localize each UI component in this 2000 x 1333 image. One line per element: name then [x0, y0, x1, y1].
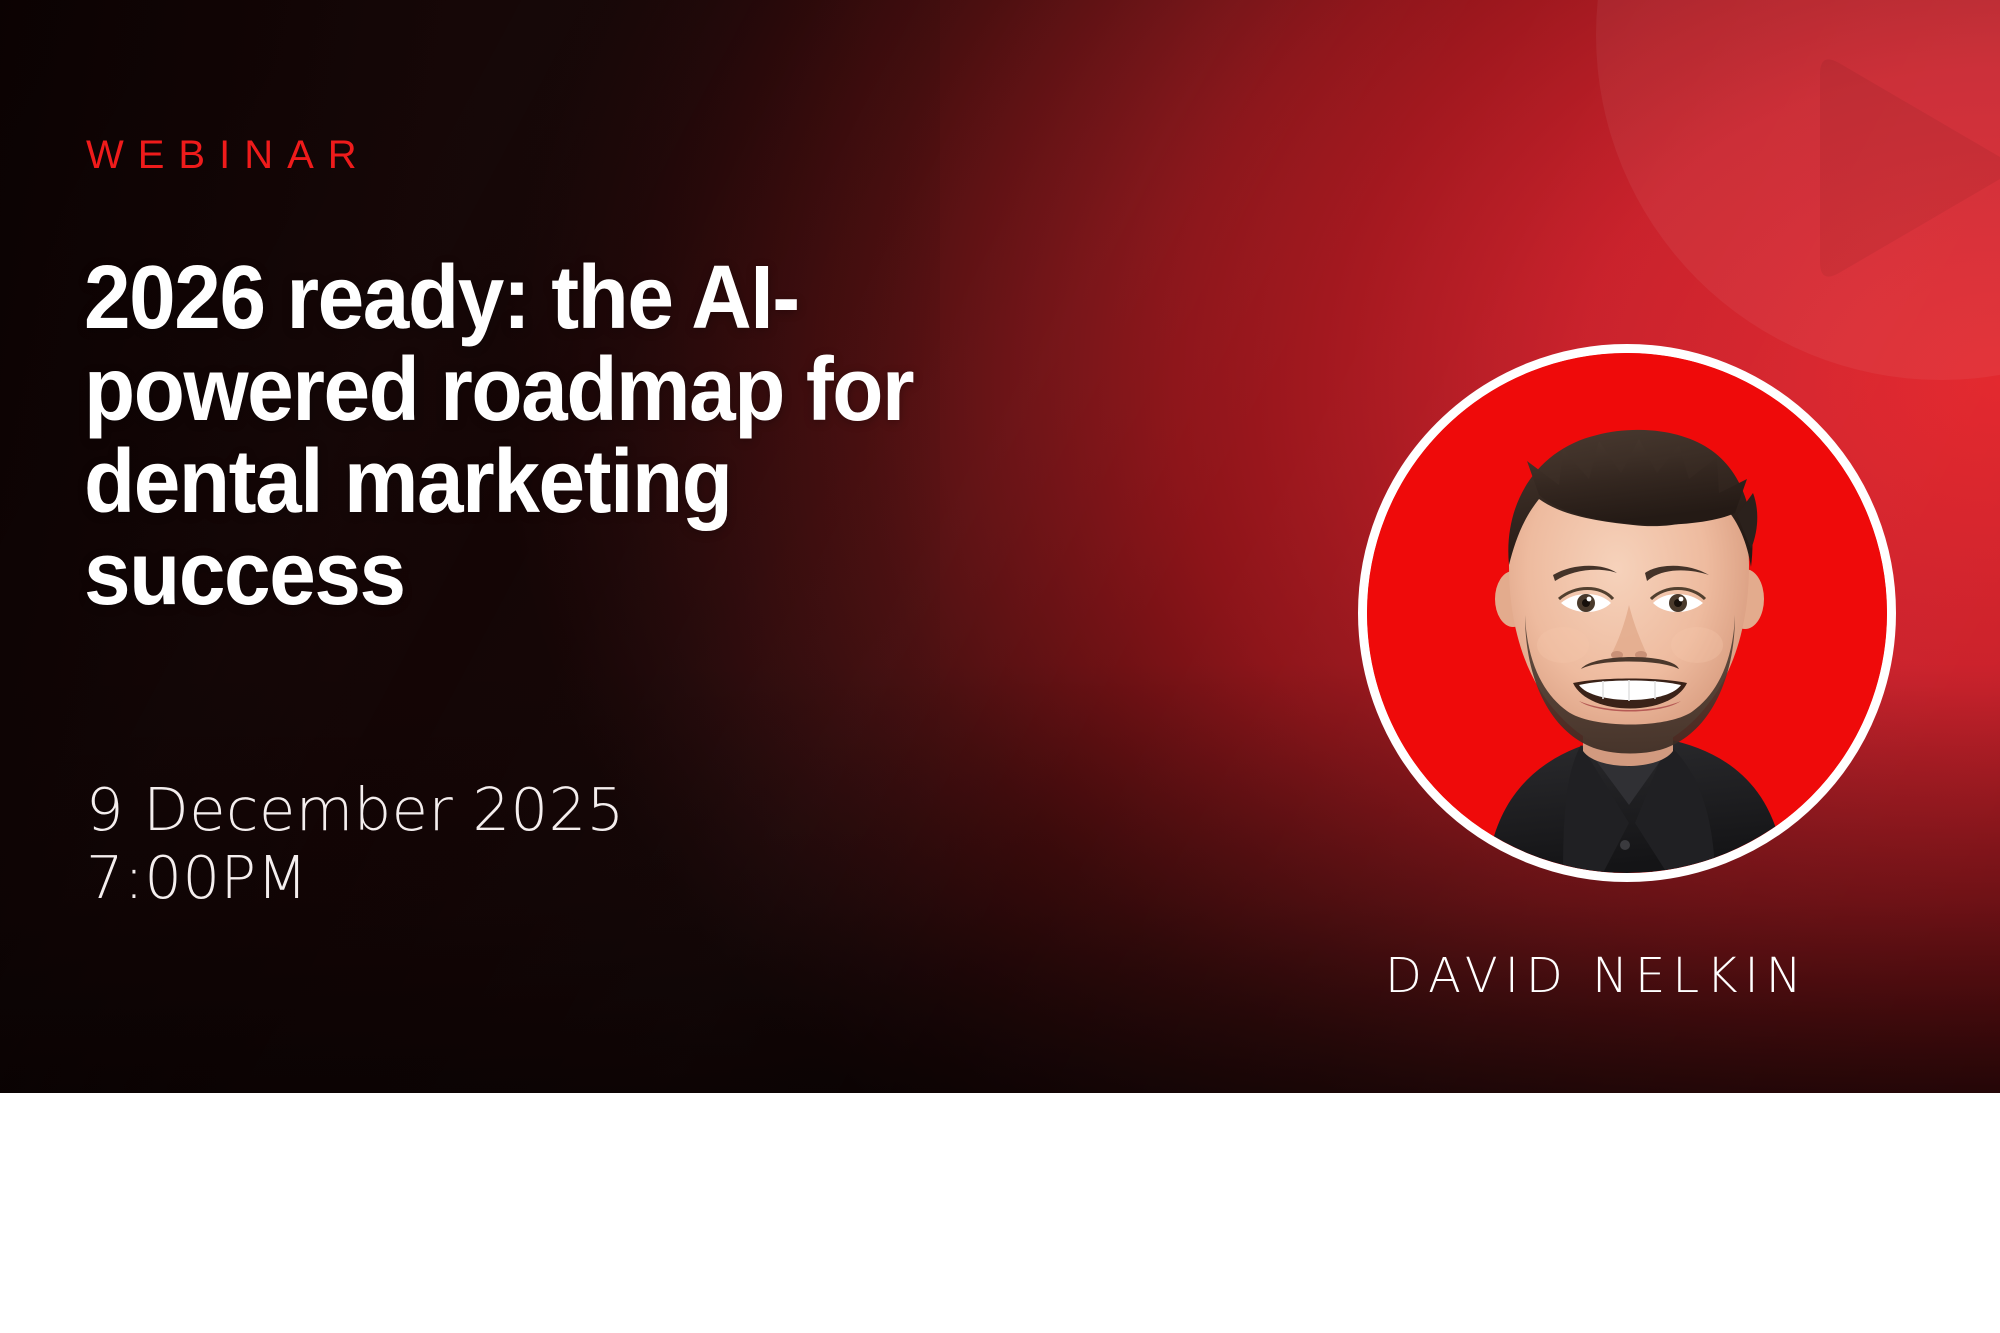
- event-date: 9 December 2025: [86, 776, 625, 844]
- speaker-avatar: [1358, 344, 1896, 882]
- event-time: 7:00PM: [86, 844, 625, 912]
- footer-bar: Dentistry Webinars 1HR CPD Sponsored by: [0, 1093, 2000, 1333]
- play-triangle-watermark-icon: [1786, 44, 2000, 294]
- webinar-promo-poster: WEBINAR 2026 ready: the AI-powered roadm…: [0, 0, 2000, 1333]
- page-title: 2026 ready: the AI-powered roadmap for d…: [84, 252, 1023, 620]
- speaker-name: DAVID NELKIN: [1385, 948, 1809, 1004]
- event-datetime: 9 December 2025 7:00PM: [86, 776, 625, 912]
- hero-banner: WEBINAR 2026 ready: the AI-powered roadm…: [0, 0, 2000, 1093]
- speaker-photo: [1367, 353, 1887, 873]
- eyebrow-label: WEBINAR: [86, 133, 371, 178]
- avatar-ring: [1358, 344, 1896, 882]
- circle-watermark-icon: [1596, 0, 2000, 380]
